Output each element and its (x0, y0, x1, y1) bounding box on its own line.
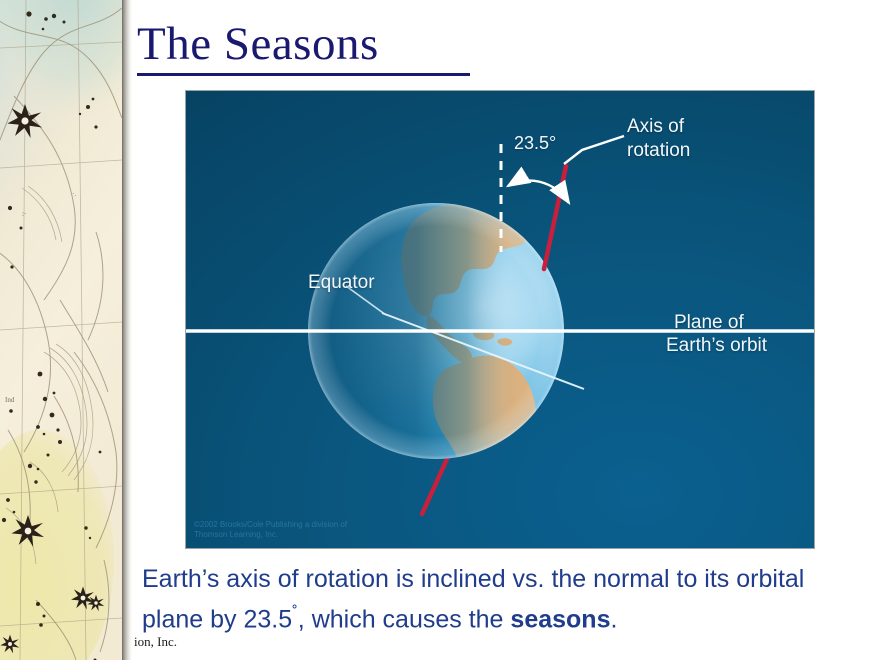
title-underline (137, 73, 470, 76)
axis-label-line2: rotation (627, 139, 690, 163)
axis-of-rotation-label: Axis of rotation (627, 115, 690, 163)
decorative-star-map-sidebar: Ind :· ·. (0, 0, 122, 660)
caption-text-part2: , which causes the (298, 605, 511, 633)
svg-text:·.: ·. (72, 190, 76, 198)
rotation-axis-upper (544, 166, 566, 269)
page-title: The Seasons (137, 16, 379, 72)
orbital-plane-label-line2: Earth’s orbit (666, 334, 767, 358)
slide-canvas: Ind :· ·. The Seasons (0, 0, 880, 660)
earth-tilt-diagram: Axis of rotation 23.5° Equator Plane of … (185, 90, 815, 549)
figure-copyright-watermark: ©2002 Brooks/Cole Publishing a division … (194, 520, 364, 540)
axis-label-leader-line (564, 136, 624, 164)
tilt-angle-label: 23.5° (514, 131, 556, 155)
sidebar-edge-shadow (122, 0, 132, 660)
slide-caption: Earth’s axis of rotation is inclined vs.… (142, 562, 864, 636)
footer-partial-note: ion, Inc. (134, 634, 177, 650)
svg-text::·: :· (22, 210, 26, 218)
orbital-plane-label-line1: Plane of (674, 311, 744, 335)
axis-label-line1: Axis of (627, 115, 690, 139)
earth-globe (308, 203, 564, 515)
caption-emphasis-seasons: seasons (510, 605, 610, 633)
star-map-illustration: Ind :· ·. (0, 0, 122, 660)
equator-label: Equator (308, 271, 375, 295)
svg-text:Ind: Ind (5, 396, 15, 404)
caption-text-end: . (610, 605, 617, 633)
